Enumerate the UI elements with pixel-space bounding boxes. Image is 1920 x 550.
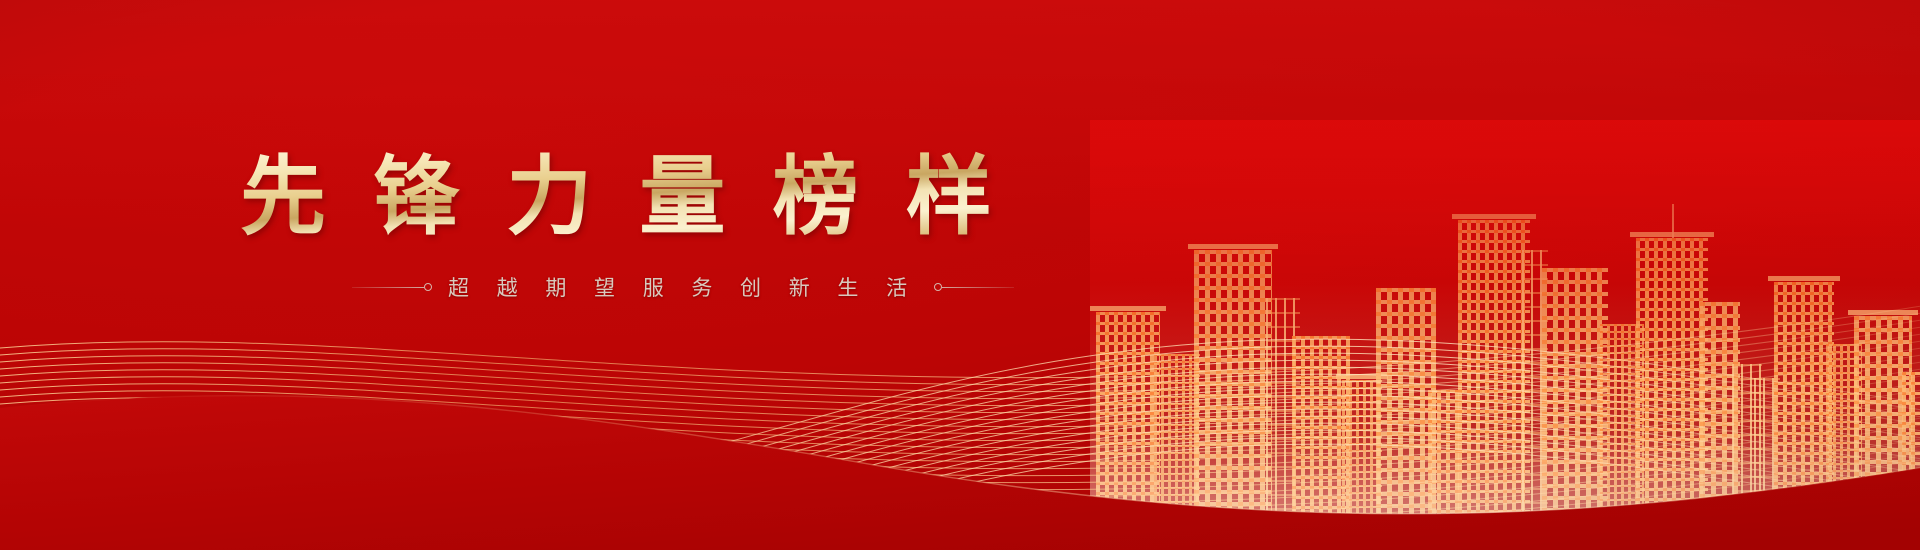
ornament-right <box>934 283 1014 291</box>
ornament-left <box>352 283 432 291</box>
page-subtitle: 超 越 期 望 服 务 创 新 生 活 <box>448 272 918 302</box>
banner-root: 先 锋 力 量 榜 样 在 身 边 超 越 期 望 服 务 创 新 生 活 <box>0 0 1920 550</box>
ornament-line-icon <box>942 287 1014 288</box>
ornament-circle-icon <box>424 283 432 291</box>
subtitle-row: 超 越 期 望 服 务 创 新 生 活 <box>240 272 1040 302</box>
headline-block: 先 锋 力 量 榜 样 在 身 边 超 越 期 望 服 务 创 新 生 活 <box>240 148 1040 302</box>
ornament-line-icon <box>352 287 424 288</box>
page-title: 先 锋 力 量 榜 样 在 身 边 <box>240 148 1040 246</box>
ornament-circle-icon <box>934 283 942 291</box>
